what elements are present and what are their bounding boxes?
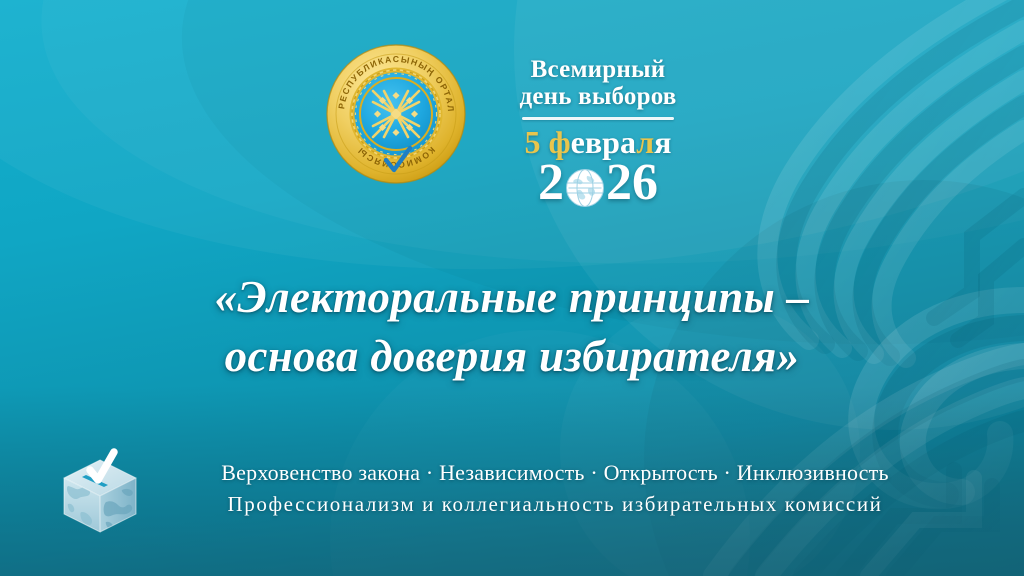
principles-line-2: Профессионализм и коллегиальность избира… [166,489,944,519]
poster-header: ҚАЗАҚСТАН РЕСПУБЛИКАСЫНЫҢ ОРТАЛЫҚ САЙЛАУ… [0,44,1024,209]
poster-canvas: ҚАЗАҚСТАН РЕСПУБЛИКАСЫНЫҢ ОРТАЛЫҚ САЙЛАУ… [0,0,1024,576]
emblem-graphic: ҚАЗАҚСТАН РЕСПУБЛИКАСЫНЫҢ ОРТАЛЫҚ САЙЛАУ… [326,44,466,184]
principles-tagline: Верховенство закона · Независимость · От… [166,457,984,519]
world-day-line-1: Всемирный [498,56,698,83]
cec-kazakhstan-emblem: ҚАЗАҚСТАН РЕСПУБЛИКАСЫНЫҢ ОРТАЛЫҚ САЙЛАУ… [326,44,466,184]
event-year: 2 [498,157,698,209]
principles-line-1: Верховенство закона · Независимость · От… [166,457,944,489]
ballot-box-with-checkmark-icon [56,442,144,534]
world-day-line-2: день выборов [498,83,698,110]
poster-title: «Электоральные принципы – основа доверия… [0,268,1024,387]
world-elections-day-block: Всемирный день выборов 5 февраля 2 [498,44,698,209]
year-digits-after-globe: 26 [606,157,658,209]
header-divider [522,117,674,120]
title-line-2: основа доверия избирателя» [60,327,964,386]
globe-icon [565,166,605,206]
event-date: 5 февраля [498,126,698,159]
poster-footer: Верховенство закона · Независимость · От… [56,442,984,534]
title-line-1: «Электоральные принципы – [60,268,964,327]
year-digit-before-globe: 2 [538,157,564,209]
